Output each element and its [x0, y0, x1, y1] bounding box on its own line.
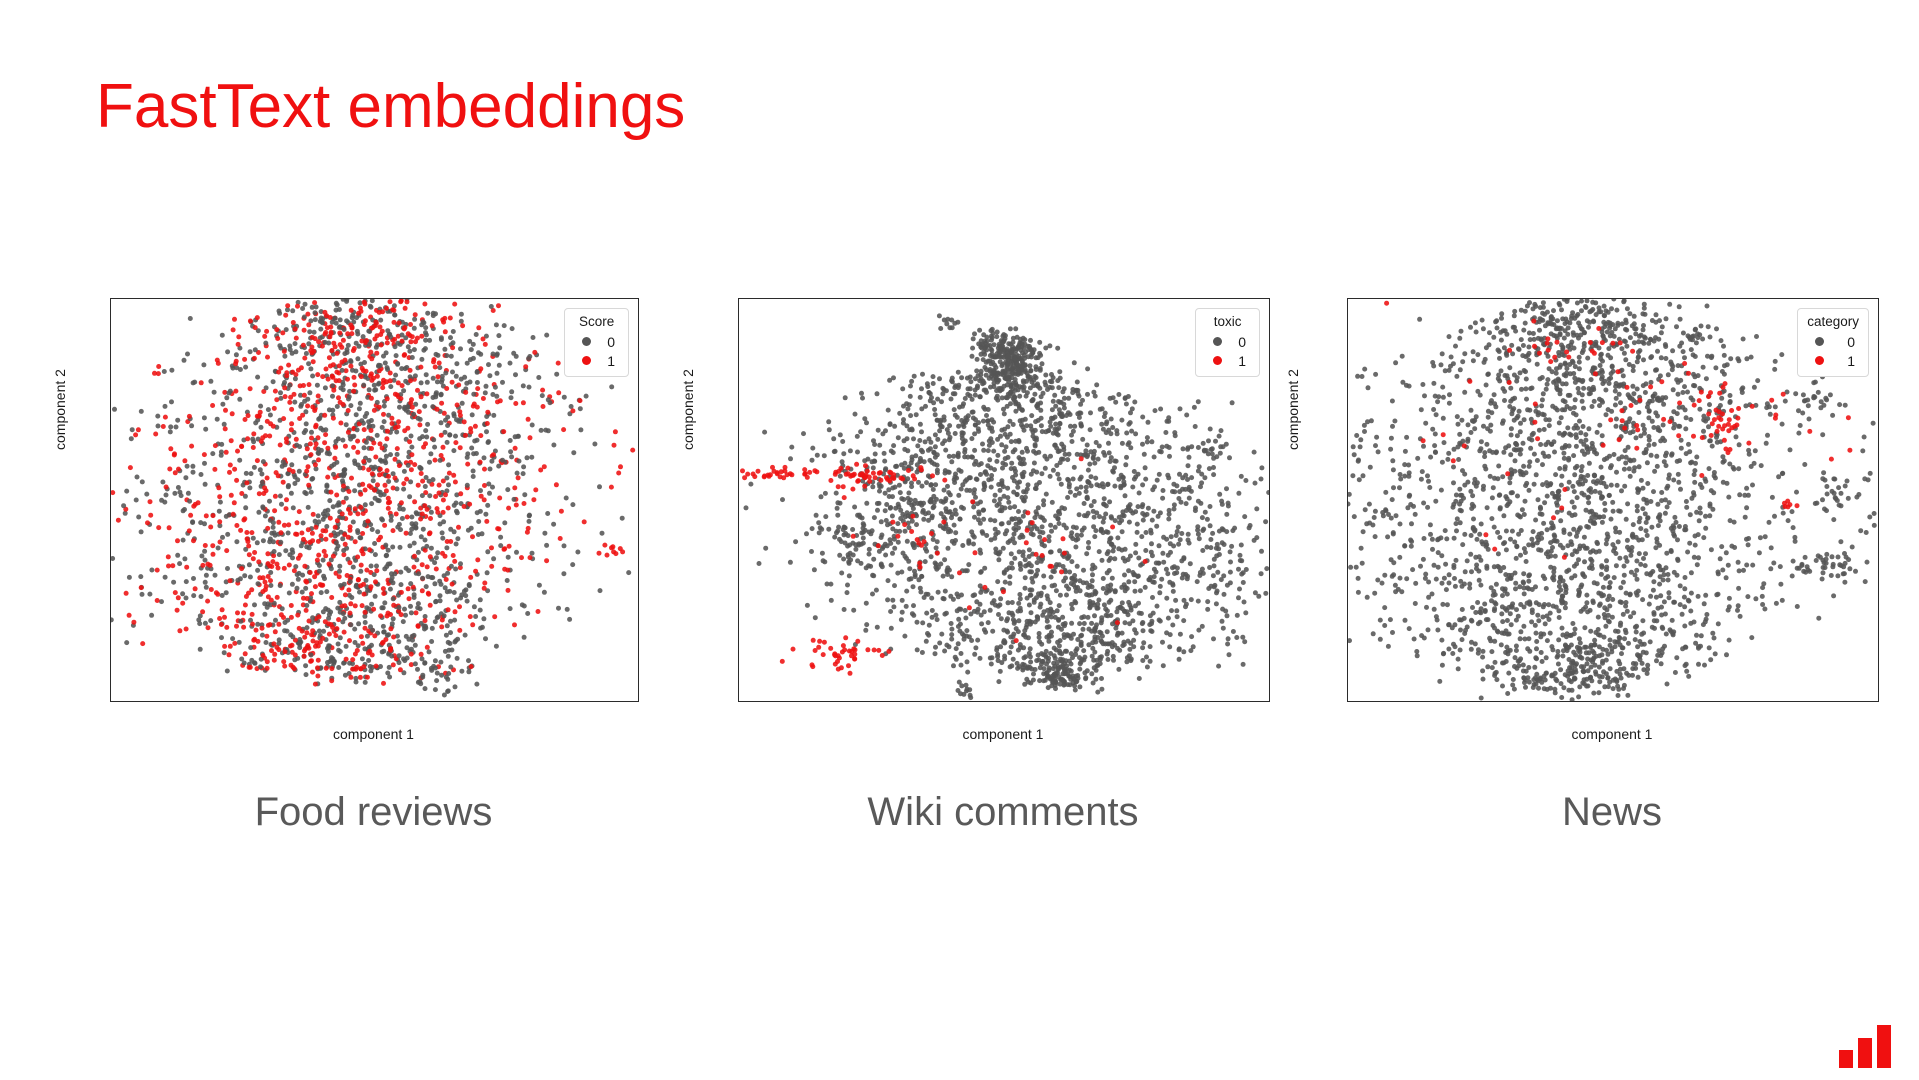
legend-1[interactable]: Score 0 1: [564, 308, 629, 377]
y-axis-label: component 2: [680, 369, 696, 450]
legend-label-class0: 0: [1238, 334, 1246, 350]
figure-2: component 2 toxic 0 1 6 4: [680, 290, 1280, 740]
y-tick: 4: [738, 377, 739, 393]
x-tick: 8: [1102, 701, 1110, 702]
figure-3: component 2 category 0 1 8: [1285, 290, 1895, 740]
x-tick: −2: [210, 701, 227, 702]
y-tick: 7: [1347, 346, 1348, 362]
legend-dot-class1: [1213, 356, 1222, 365]
y-tick: 6: [110, 298, 111, 312]
y-tick: 1: [110, 550, 111, 566]
legend-label-class1: 1: [1847, 353, 1855, 369]
figure-1: component 2 Score 0 1 6 5: [52, 290, 652, 740]
logo-bar-1: [1839, 1050, 1853, 1068]
legend-label-class1: 1: [1238, 353, 1246, 369]
y-tick: −1: [110, 652, 111, 668]
x-tick: 0: [1683, 701, 1691, 702]
x-tick: 7: [1034, 701, 1042, 702]
x-tick: 2: [1830, 701, 1838, 702]
y-tick: 5: [1347, 452, 1348, 468]
y-tick: 5: [110, 347, 111, 363]
x-tick: 4: [830, 701, 838, 702]
x-tick: 1: [435, 701, 443, 702]
slide-canvas: FastText embeddings component 2 Score 0 …: [0, 0, 1919, 1080]
x-tick: 3: [762, 701, 770, 702]
legend-2[interactable]: toxic 0 1: [1195, 308, 1260, 377]
y-tick: 2: [738, 444, 739, 460]
y-tick: 1: [1347, 664, 1348, 680]
plot-area-2: toxic 0 1 6 4 2 0 −2 −4 3 4: [738, 298, 1270, 702]
panel-caption-3: News: [1347, 790, 1877, 835]
x-tick: −2: [1531, 701, 1548, 702]
figure-panel-wiki-comments: component 2 toxic 0 1 6 4: [680, 290, 1280, 740]
legend-3[interactable]: category 0 1: [1797, 308, 1869, 377]
panel-caption-1: Food reviews: [110, 790, 637, 835]
y-tick: 8: [1347, 298, 1348, 309]
legend-title-1: Score: [574, 314, 619, 329]
figure-panel-food-reviews: component 2 Score 0 1 6 5: [52, 290, 652, 740]
legend-dot-class0: [1815, 337, 1824, 346]
legend-entry-0[interactable]: 0: [574, 332, 619, 351]
legend-dot-class0: [582, 337, 591, 346]
x-tick: 2: [509, 701, 517, 702]
legend-dot-class1: [1815, 356, 1824, 365]
scatter-points-2: [739, 299, 1269, 701]
x-tick: −1: [1605, 701, 1622, 702]
legend-dot-class0: [1213, 337, 1222, 346]
legend-label-class0: 0: [1847, 334, 1855, 350]
x-tick: 6: [966, 701, 974, 702]
legend-entry-1[interactable]: 1: [1205, 351, 1250, 370]
x-tick: 10: [1234, 701, 1250, 702]
legend-title-3: category: [1807, 314, 1859, 329]
plot-area-3: category 0 1 8 7 6 5 4 3 2 1: [1347, 298, 1879, 702]
x-tick: 0: [361, 701, 369, 702]
legend-dot-class1: [582, 356, 591, 365]
x-tick: −3: [136, 701, 153, 702]
plot-area-1: Score 0 1 6 5 4 3 2 1 0 −1: [110, 298, 639, 702]
x-axis-label: component 1: [738, 726, 1268, 742]
x-tick: 5: [898, 701, 906, 702]
logo-bar-3: [1877, 1025, 1891, 1068]
x-tick: 1: [1756, 701, 1764, 702]
legend-entry-1[interactable]: 1: [574, 351, 619, 370]
figure-panel-news: component 2 category 0 1 8: [1285, 290, 1895, 740]
y-tick: 3: [1347, 558, 1348, 574]
y-axis-label: component 2: [1285, 369, 1301, 450]
scatter-points-1: [111, 299, 638, 701]
legend-label-class1: 1: [607, 353, 615, 369]
y-tick: −2: [738, 577, 739, 593]
legend-entry-0[interactable]: 0: [1807, 332, 1859, 351]
y-tick: 0: [110, 601, 111, 617]
y-tick: 4: [1347, 505, 1348, 521]
legend-entry-1[interactable]: 1: [1807, 351, 1859, 370]
y-tick: 2: [1347, 611, 1348, 627]
x-tick: −1: [283, 701, 300, 702]
y-axis-label: component 2: [52, 369, 68, 450]
y-tick: 6: [738, 311, 739, 327]
panel-caption-2: Wiki comments: [738, 790, 1268, 835]
x-axis-label: component 1: [110, 726, 637, 742]
legend-label-class0: 0: [607, 334, 615, 350]
x-axis-label: component 1: [1347, 726, 1877, 742]
y-tick: 3: [110, 449, 111, 465]
page-title: FastText embeddings: [96, 74, 685, 139]
bar-chart-logo: [1839, 1024, 1901, 1068]
x-tick: 9: [1170, 701, 1178, 702]
logo-bar-2: [1858, 1038, 1872, 1068]
legend-entry-0[interactable]: 0: [1205, 332, 1250, 351]
y-tick: 2: [110, 500, 111, 516]
x-tick: −4: [1384, 701, 1401, 702]
legend-title-2: toxic: [1205, 314, 1250, 329]
y-tick: 0: [738, 510, 739, 526]
y-tick: 4: [110, 398, 111, 414]
x-tick: −3: [1457, 701, 1474, 702]
y-tick: −4: [738, 643, 739, 659]
y-tick: 6: [1347, 400, 1348, 416]
x-tick: 3: [582, 701, 590, 702]
